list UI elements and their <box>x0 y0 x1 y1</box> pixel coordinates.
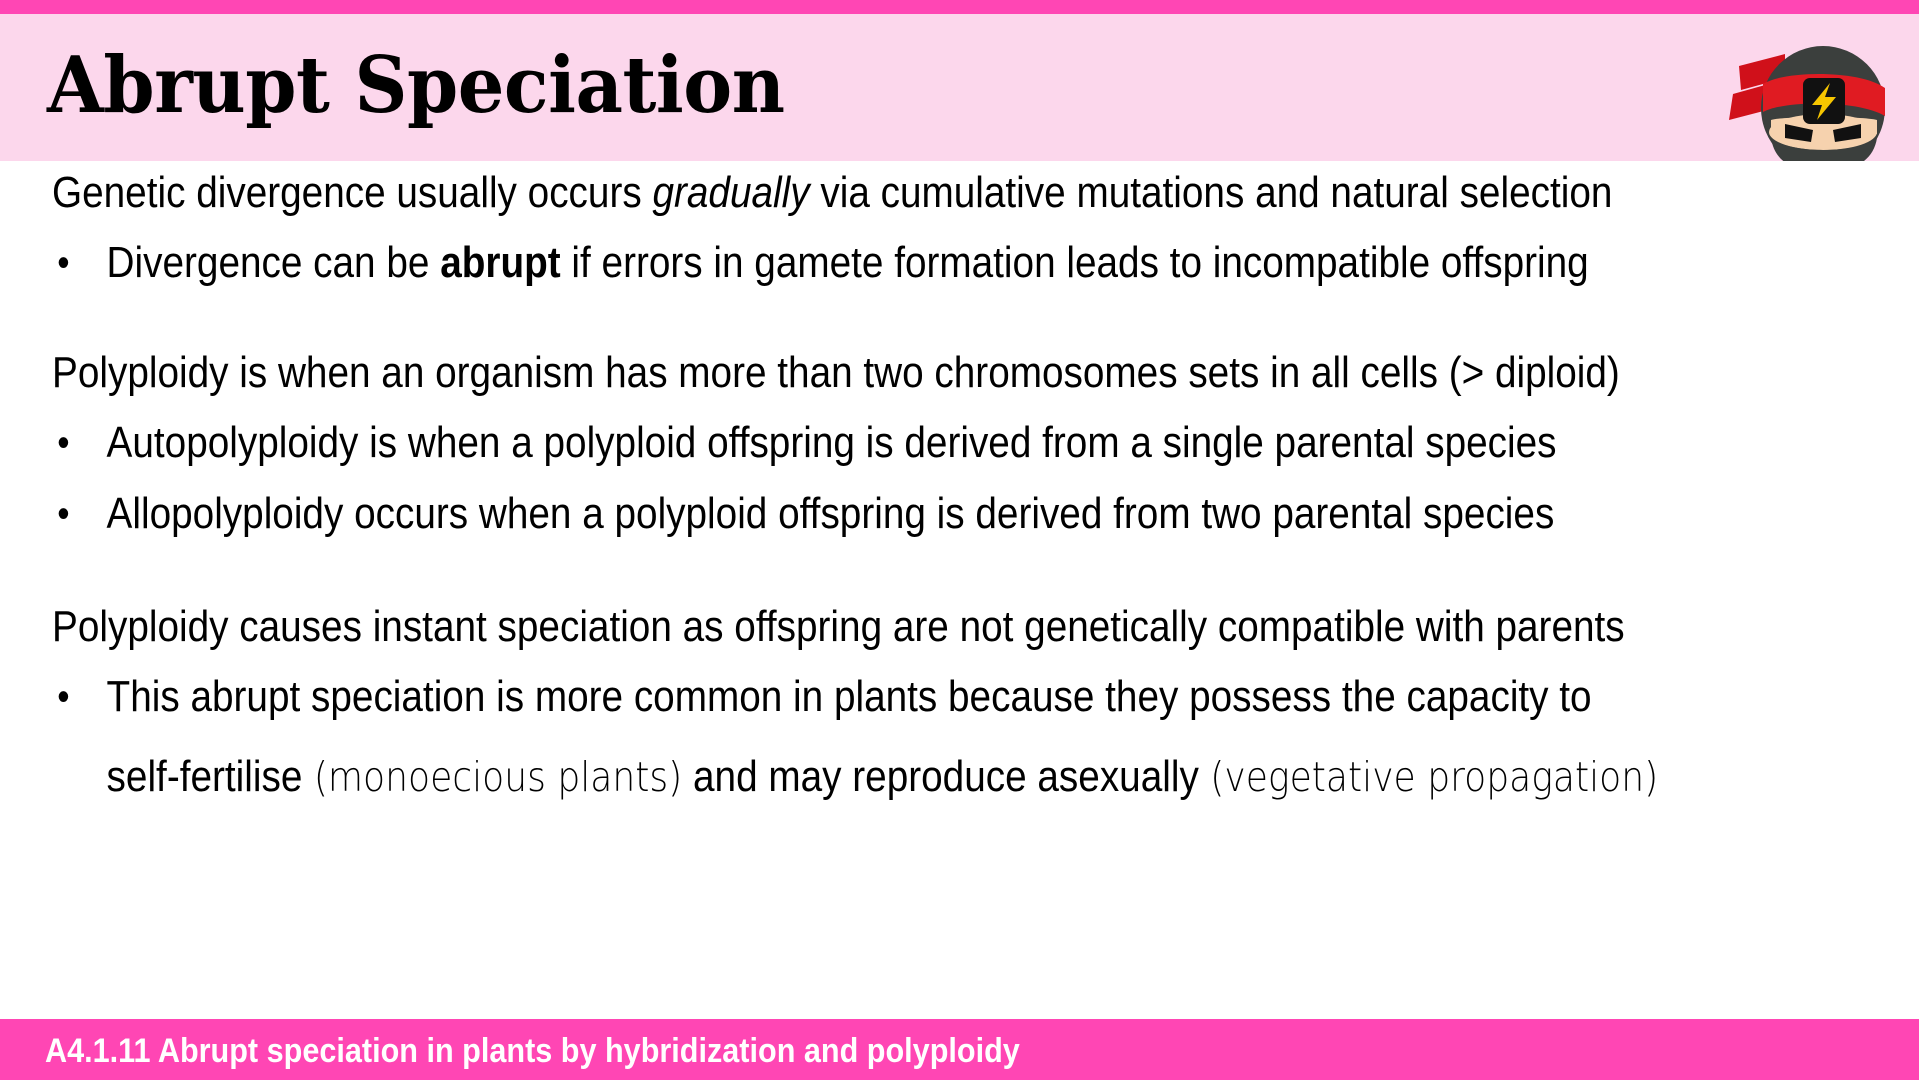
top-accent-strip <box>0 0 1919 14</box>
bullet-3-text: Allopolyploidy occurs when a polyploid o… <box>107 488 1669 540</box>
footer-syllabus-statement: A4.1.11 Abrupt speciation in plants by h… <box>45 1032 1020 1070</box>
bullet-marker-icon: • <box>57 417 69 469</box>
paragraph-genetic-divergence: Genetic divergence usually occurs gradua… <box>52 167 1660 219</box>
presentation-slide: Abrupt Speciation <box>0 0 1919 1080</box>
bullet-marker-icon: • <box>57 671 69 723</box>
bullet-4-line-2: self-fertilise (monoecious plants) and m… <box>107 751 1669 803</box>
bullet-item-autopolyploidy: •Autopolyploidy is when a polyploid offs… <box>52 417 1669 469</box>
bullet-4-asexual-note: and may reproduce asexually <box>682 752 1199 801</box>
paragraph-1-part-b: via cumulative mutations and natural sel… <box>810 168 1613 217</box>
bullet-item-divergence-abrupt: •Divergence can be abrupt if errors in g… <box>52 237 1669 289</box>
bullet-2-text: Autopolyploidy is when a polyploid offsp… <box>107 417 1669 469</box>
bullet-1-part-b: if errors in gamete formation leads to i… <box>561 238 1589 287</box>
bullet-1-part-a: Divergence can be <box>107 238 441 287</box>
bullet-item-plants-self-fertilise: •This abrupt speciation is more common i… <box>52 671 1669 803</box>
slide-footer-band: A4.1.11 Abrupt speciation in plants by h… <box>0 1019 1919 1080</box>
paragraph-1-emphasis: gradually <box>652 168 809 217</box>
bullet-4-vegetative-note: (vegetative propagation) <box>1199 753 1658 801</box>
slide-body: Genetic divergence usually occurs gradua… <box>0 161 1919 1019</box>
bullet-1-text: Divergence can be abrupt if errors in ga… <box>107 237 1669 289</box>
bullet-4-self-fertilise: self-fertilise <box>107 752 303 801</box>
paragraph-1-part-a: Genetic divergence usually occurs <box>52 168 652 217</box>
bullet-4-monoecious-note: (monoecious plants) <box>302 753 682 801</box>
bullet-4-line-1: This abrupt speciation is more common in… <box>107 671 1669 723</box>
bullet-1-strong: abrupt <box>440 238 560 287</box>
paragraph-instant-speciation: Polyploidy causes instant speciation as … <box>52 601 1660 653</box>
bullet-marker-icon: • <box>57 488 69 540</box>
ninja-mascot-logo <box>1727 20 1895 161</box>
slide-header-band: Abrupt Speciation <box>0 14 1919 161</box>
page-title: Abrupt Speciation <box>47 42 785 130</box>
paragraph-polyploidy-definition: Polyploidy is when an organism has more … <box>52 347 1660 399</box>
bullet-marker-icon: • <box>57 237 69 289</box>
bullet-item-allopolyploidy: •Allopolyploidy occurs when a polyploid … <box>52 488 1669 540</box>
